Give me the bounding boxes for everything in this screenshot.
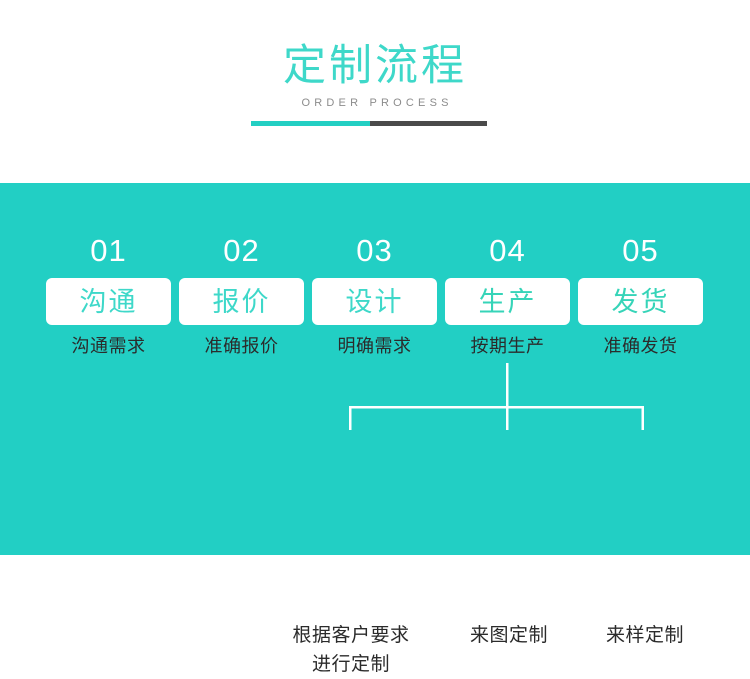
step-number: 03	[308, 231, 441, 271]
step-number: 04	[441, 231, 574, 271]
page-title: 定制流程	[0, 40, 750, 92]
connector-horizontal-bar	[349, 406, 644, 409]
header-divider-dark-segment	[370, 121, 487, 126]
step-pill-label: 设计	[346, 287, 404, 317]
process-step-05: 05 发货 准确发货	[574, 231, 707, 358]
step-pill[interactable]: 沟通	[46, 278, 171, 325]
process-steps-row: 01 沟通 沟通需求 02 报价 准确报价 03 设计 明确需求	[0, 183, 750, 373]
step-pill-label: 生产	[479, 287, 537, 317]
header-divider-accent-segment	[251, 121, 370, 126]
step-pill[interactable]: 报价	[179, 278, 304, 325]
connector-drop-right	[642, 406, 645, 430]
process-step-02: 02 报价 准确报价	[175, 231, 308, 358]
step-caption: 明确需求	[308, 334, 441, 358]
step-caption: 准确报价	[175, 334, 308, 358]
step-caption: 准确发货	[574, 334, 707, 358]
step-caption: 沟通需求	[42, 334, 175, 358]
branch-note-line-2: 进行定制	[271, 650, 431, 679]
order-process-infographic: 定制流程 ORDER PROCESS 01 沟通 沟通需求 02 报价 准确报价	[0, 0, 750, 632]
branch-note-line-1: 根据客户要求	[271, 621, 431, 650]
step-pill[interactable]: 设计	[312, 278, 437, 325]
step-number: 05	[574, 231, 707, 271]
process-panel: 01 沟通 沟通需求 02 报价 准确报价 03 设计 明确需求	[0, 183, 750, 555]
branch-note-line-1: 来样定制	[572, 621, 718, 650]
branch-note-line-1: 来图定制	[436, 621, 582, 650]
step-number: 01	[42, 231, 175, 271]
branch-note-by-sample: 来样定制	[572, 621, 718, 650]
connector-drop-middle	[506, 406, 509, 430]
branch-note-by-drawing: 来图定制	[436, 621, 582, 650]
process-step-04: 04 生产 按期生产	[441, 231, 574, 358]
header-divider	[251, 121, 487, 126]
step-pill[interactable]: 生产	[445, 278, 570, 325]
step-pill-label: 沟通	[80, 287, 138, 317]
header-section: 定制流程 ORDER PROCESS	[0, 0, 750, 183]
connector-drop-left	[349, 406, 352, 430]
process-step-03: 03 设计 明确需求	[308, 231, 441, 358]
step-pill-label: 发货	[612, 287, 670, 317]
step-pill-label: 报价	[213, 287, 271, 317]
step-caption: 按期生产	[441, 334, 574, 358]
process-step-01: 01 沟通 沟通需求	[42, 231, 175, 358]
step-pill[interactable]: 发货	[578, 278, 703, 325]
step-number: 02	[175, 231, 308, 271]
page-subtitle: ORDER PROCESS	[0, 95, 750, 111]
branch-note-custom-requirements: 根据客户要求 进行定制	[271, 621, 431, 679]
